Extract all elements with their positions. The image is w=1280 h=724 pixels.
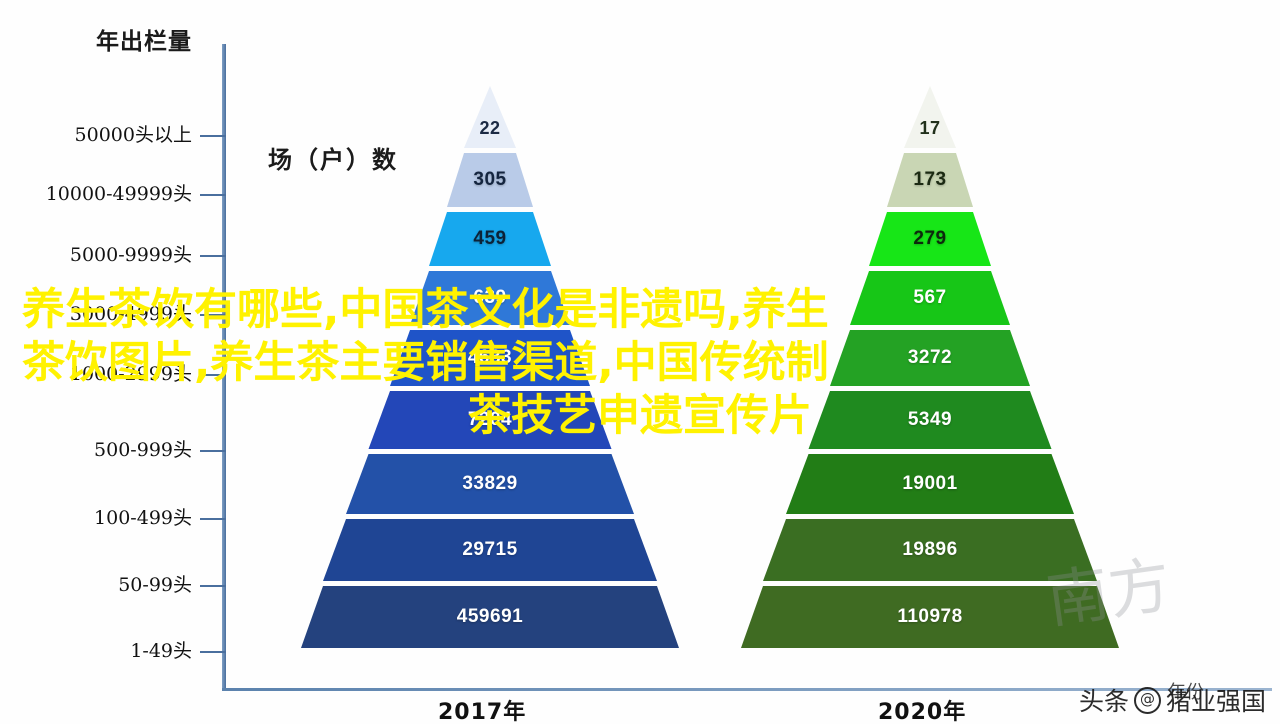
pyramid-level-right-3: 567 xyxy=(850,271,1010,325)
x-axis-label-2017: 2017年 xyxy=(438,694,526,724)
pyramid-level-value: 19001 xyxy=(902,473,957,495)
pyramid-level-value: 459691 xyxy=(457,606,523,628)
pyramid-level-value: 3272 xyxy=(908,347,952,369)
pyramid-level-value: 22 xyxy=(479,118,500,139)
pyramid-level-right-0: 17 xyxy=(904,86,956,148)
pyramid-level-value: 305 xyxy=(473,169,506,191)
y-axis-tick-0: 50000头以上 xyxy=(0,135,226,136)
y-axis-tick-2: 5000-9999头 xyxy=(0,255,226,256)
y-axis-tick-label: 50-99头 xyxy=(118,570,192,597)
pyramid-level-value: 19896 xyxy=(902,539,957,561)
brand-watermark: 头条 @ 猪业强国 xyxy=(1079,682,1266,718)
y-axis-tick-5: 500-999头 xyxy=(0,450,226,451)
y-axis-tick-mark xyxy=(200,374,226,376)
ghost-watermark: 南方 xyxy=(1040,534,1175,640)
y-axis-tick-label: 1000-2999头 xyxy=(70,359,192,386)
pyramid-level-left-6: 33829 xyxy=(346,454,634,514)
pyramid-level-left-8: 459691 xyxy=(301,586,679,648)
y-axis-tick-mark xyxy=(200,450,226,452)
y-axis-tick-mark xyxy=(200,135,226,137)
y-axis-line xyxy=(222,44,226,690)
pyramid-level-right-5: 5349 xyxy=(809,391,1052,449)
y-axis-tick-7: 50-99头 xyxy=(0,585,226,586)
y-axis-tick-mark xyxy=(200,255,226,257)
x-axis-label-2020: 2020年 xyxy=(878,694,966,724)
pyramid-level-right-4: 3272 xyxy=(830,330,1030,386)
y-axis-tick-6: 100-499头 xyxy=(0,518,226,519)
pyramid-2017: 22305459639463372043382929715459691 xyxy=(280,86,700,688)
y-axis-tick-mark xyxy=(200,314,226,316)
pyramid-level-right-6: 19001 xyxy=(786,454,1074,514)
brand-watermark-prefix: 头条 xyxy=(1079,682,1129,718)
y-axis-tick-mark xyxy=(200,518,226,520)
pyramid-level-value: 110978 xyxy=(897,606,962,628)
pyramid-level-left-0: 22 xyxy=(464,86,516,148)
y-axis-tick-label: 500-999头 xyxy=(94,435,192,462)
pyramid-level-value: 173 xyxy=(913,169,946,191)
chart-canvas: 年出栏量 年份 50000头以上10000-49999头5000-9999头30… xyxy=(0,0,1280,724)
y-axis-tick-label: 3000-4999头 xyxy=(70,299,192,326)
pyramid-level-value: 459 xyxy=(473,228,506,250)
pyramid-level-right-1: 173 xyxy=(887,153,973,207)
pyramid-level-value: 279 xyxy=(913,228,946,250)
pyramid-level-left-4: 4633 xyxy=(390,330,590,386)
y-axis-tick-3: 3000-4999头 xyxy=(0,314,226,315)
y-axis-tick-label: 10000-49999头 xyxy=(46,179,192,206)
pyramid-level-left-2: 459 xyxy=(429,212,551,266)
y-axis-tick-mark xyxy=(200,585,226,587)
y-axis-tick-mark xyxy=(200,194,226,196)
pyramid-level-left-3: 639 xyxy=(410,271,570,325)
pyramid-level-value: 567 xyxy=(913,287,946,309)
pyramid-level-value: 5349 xyxy=(908,409,952,431)
y-axis-tick-label: 1-49头 xyxy=(130,636,192,663)
at-sign-icon: @ xyxy=(1134,687,1161,714)
pyramid-level-value: 33829 xyxy=(462,473,517,495)
y-axis-tick-label: 50000头以上 xyxy=(75,120,192,147)
y-axis-tick-8: 1-49头 xyxy=(0,651,226,652)
pyramid-level-right-2: 279 xyxy=(869,212,991,266)
pyramid-level-left-7: 29715 xyxy=(323,519,657,581)
pyramid-level-value: 4633 xyxy=(468,347,512,369)
y-axis-title: 年出栏量 xyxy=(96,22,192,56)
y-axis-tick-4: 1000-2999头 xyxy=(0,374,226,375)
y-axis-tick-label: 5000-9999头 xyxy=(70,240,192,267)
brand-watermark-name: 猪业强国 xyxy=(1166,682,1266,718)
pyramid-level-left-5: 7204 xyxy=(369,391,612,449)
pyramid-level-value: 29715 xyxy=(462,539,517,561)
y-axis-tick-mark xyxy=(200,651,226,653)
y-axis-tick-label: 100-499头 xyxy=(94,503,192,530)
pyramid-level-value: 17 xyxy=(919,118,940,139)
pyramid-level-left-1: 305 xyxy=(447,153,533,207)
pyramid-level-value: 7204 xyxy=(468,409,512,431)
pyramid-level-value: 639 xyxy=(473,287,506,309)
y-axis-tick-1: 10000-49999头 xyxy=(0,194,226,195)
